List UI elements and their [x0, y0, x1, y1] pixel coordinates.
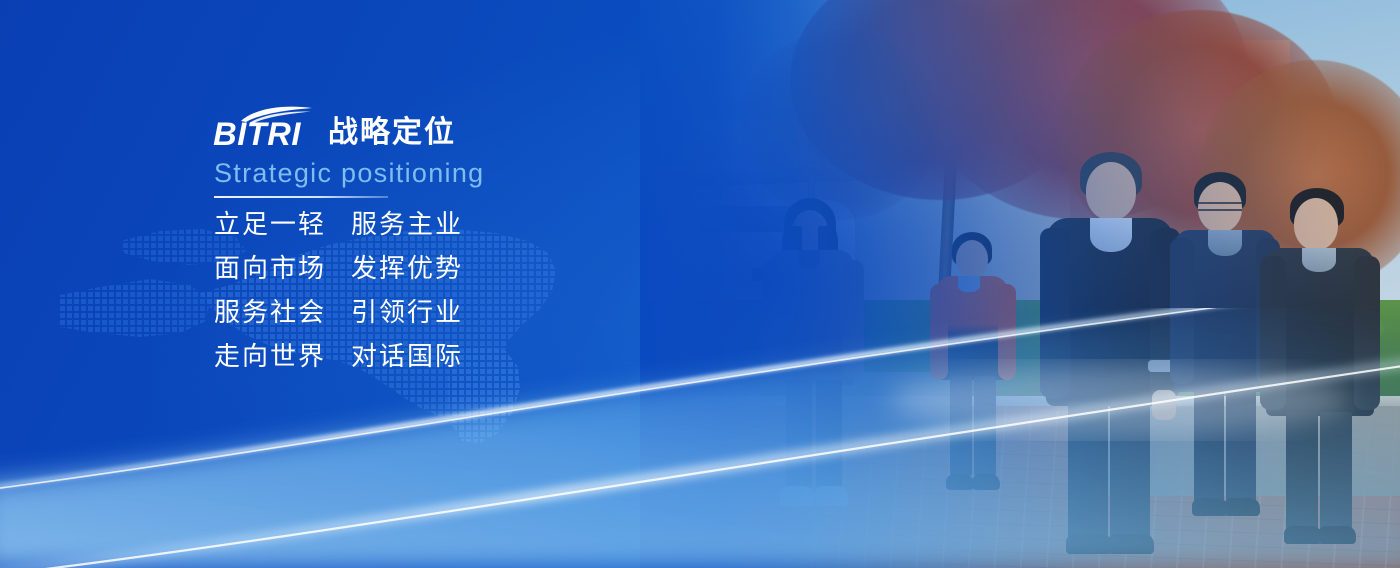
slogan-left: 面向市场	[214, 256, 351, 282]
slogan-left: 服务社会	[214, 300, 351, 326]
slogan-right: 发挥优势	[351, 256, 463, 282]
slogan-left: 走向世界	[214, 344, 351, 370]
slogan-right: 对话国际	[351, 344, 463, 370]
brand-subtitle-en: Strategic positioning	[214, 159, 774, 187]
title-divider	[214, 196, 388, 198]
slogan-row: 走向世界 对话国际	[214, 344, 774, 370]
slogan-row: 立足一轻 服务主业	[214, 212, 774, 238]
strategic-positioning-banner: BITRI 战略定位 Strategic positioning 立足一轻 服务…	[0, 0, 1400, 568]
slogan-list: 立足一轻 服务主业 面向市场 发挥优势 服务社会 引领行业 走向世界 对话国际	[214, 212, 774, 370]
slogan-row: 面向市场 发挥优势	[214, 256, 774, 282]
slogan-right: 引领行业	[351, 300, 463, 326]
banner-text-block: BITRI 战略定位 Strategic positioning 立足一轻 服务…	[214, 104, 774, 370]
slogan-left: 立足一轻	[214, 212, 351, 238]
slogan-right: 服务主业	[351, 212, 463, 238]
brand-line: BITRI 战略定位	[214, 104, 774, 150]
brand-title-cn: 战略定位	[328, 118, 456, 148]
bitri-wordmark: BITRI	[213, 118, 301, 150]
bitri-logo: BITRI	[214, 106, 314, 150]
slogan-row: 服务社会 引领行业	[214, 300, 774, 326]
